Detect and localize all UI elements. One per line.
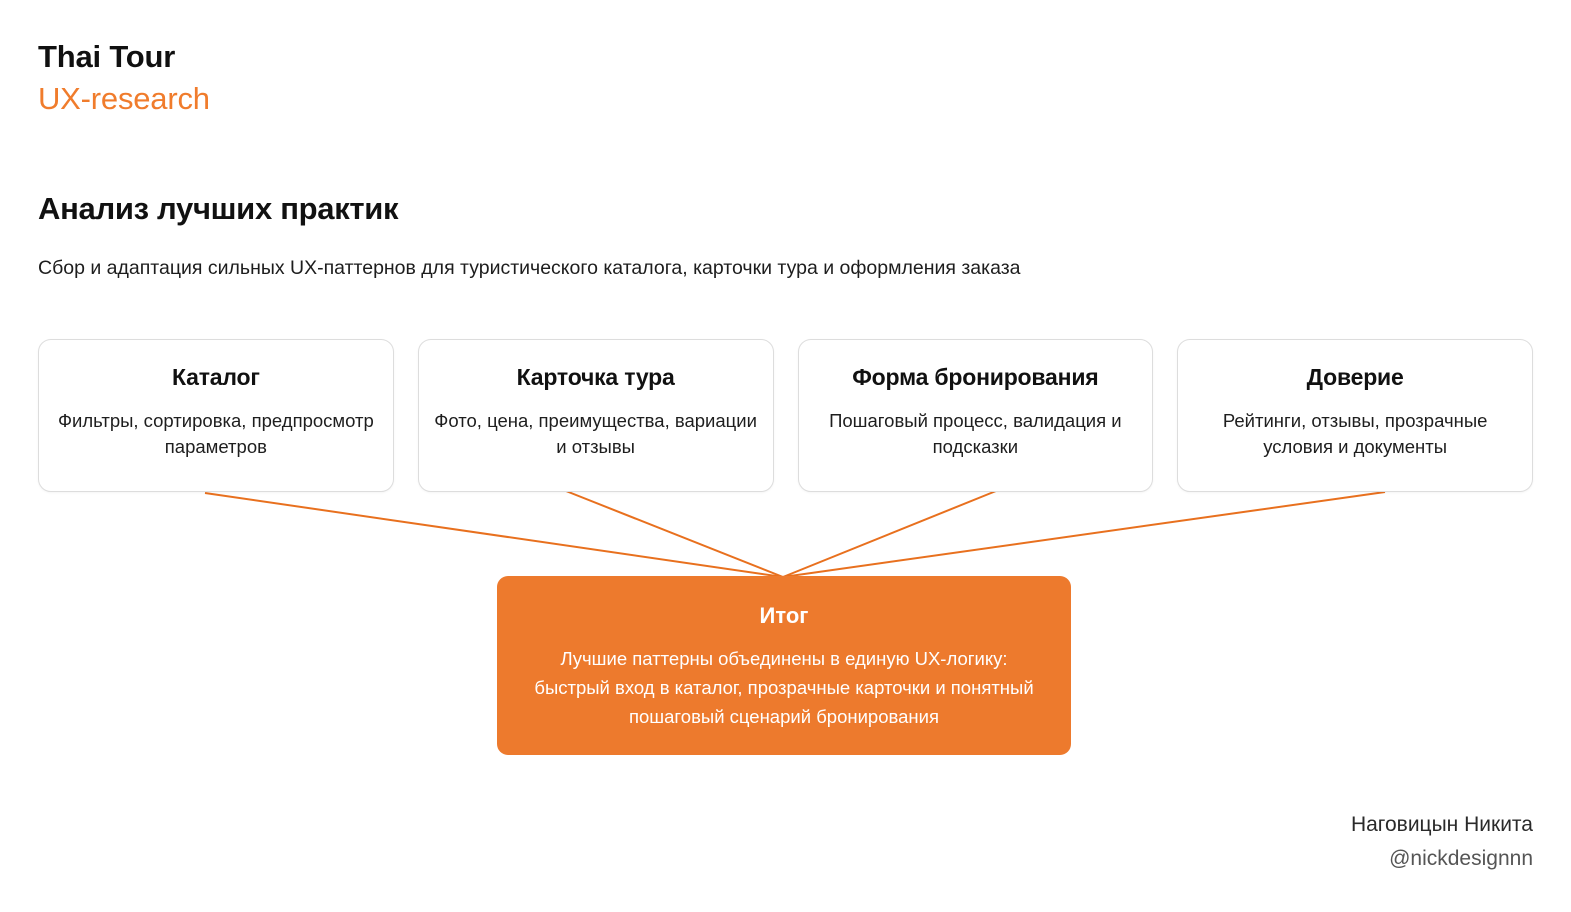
brand-block: Thai Tour UX-research bbox=[38, 38, 210, 119]
practice-card-catalog[interactable]: Каталог Фильтры, сортировка, предпросмот… bbox=[38, 339, 394, 492]
practice-card-tour-card[interactable]: Карточка тура Фото, цена, преимущества, … bbox=[418, 339, 774, 492]
card-title: Каталог bbox=[53, 364, 379, 392]
page-title: Анализ лучших практик bbox=[38, 190, 1518, 227]
result-title: Итог bbox=[523, 603, 1045, 629]
result-box: Итог Лучшие паттерны объединены в единую… bbox=[497, 576, 1071, 755]
practice-cards-row: Каталог Фильтры, сортировка, предпросмот… bbox=[38, 339, 1533, 492]
connector-line-1 bbox=[205, 493, 783, 577]
connector-line-3 bbox=[783, 491, 996, 577]
card-title: Доверие bbox=[1192, 364, 1518, 392]
footer-credits: Наговицын Никита @nickdesignnn bbox=[1351, 810, 1533, 874]
connector-line-4 bbox=[783, 492, 1385, 577]
author-handle: @nickdesignnn bbox=[1351, 844, 1533, 874]
practice-card-booking-form[interactable]: Форма бронирования Пошаговый процесс, ва… bbox=[798, 339, 1154, 492]
card-title: Карточка тура bbox=[433, 364, 759, 392]
card-description: Пошаговый процесс, валидация и подсказки bbox=[813, 408, 1139, 462]
card-description: Фильтры, сортировка, предпросмотр параме… bbox=[53, 408, 379, 462]
page-description: Сбор и адаптация сильных UX-паттернов дл… bbox=[38, 255, 1518, 281]
brand-subtitle: UX-research bbox=[38, 79, 210, 119]
result-description: Лучшие паттерны объединены в единую UX-л… bbox=[523, 645, 1045, 731]
slide-root: Thai Tour UX-research Анализ лучших прак… bbox=[0, 0, 1571, 912]
practice-card-trust[interactable]: Доверие Рейтинги, отзывы, прозрачные усл… bbox=[1177, 339, 1533, 492]
card-description: Рейтинги, отзывы, прозрачные условия и д… bbox=[1192, 408, 1518, 462]
connector-line-2 bbox=[566, 491, 783, 577]
section-header: Анализ лучших практик Сбор и адаптация с… bbox=[38, 190, 1518, 282]
card-title: Форма бронирования bbox=[813, 364, 1139, 392]
author-name: Наговицын Никита bbox=[1351, 810, 1533, 840]
card-description: Фото, цена, преимущества, вариации и отз… bbox=[433, 408, 759, 462]
brand-title: Thai Tour bbox=[38, 38, 210, 77]
